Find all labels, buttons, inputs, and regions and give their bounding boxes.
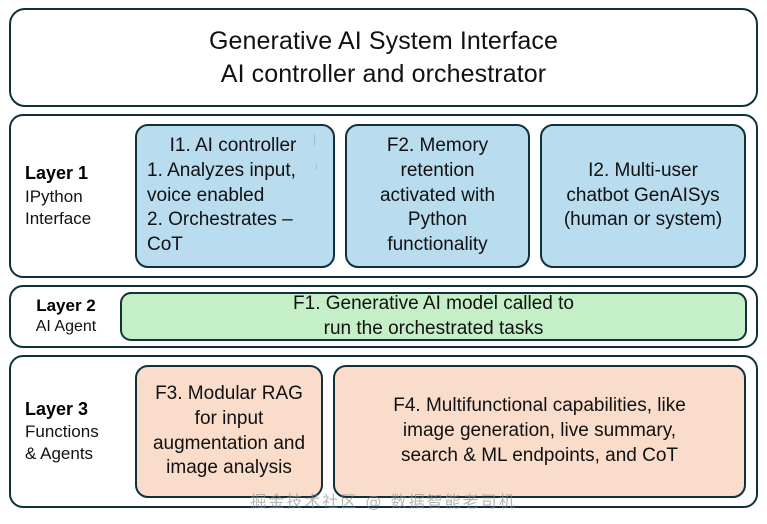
header-box: Generative AI System Interface AI contro…	[9, 8, 758, 107]
layer-2-container: Layer 2 AI Agent F1. Generative AI model…	[9, 285, 758, 348]
card-i2-text: I2. Multi-user chatbot GenAISys (human o…	[564, 159, 722, 233]
layer-1-label: Layer 1 IPython Interface	[21, 162, 125, 230]
diagram-subtitle-line-2: AI controller and orchestrator	[221, 58, 546, 91]
layer-3-label-sub-2: & Agents	[25, 443, 125, 465]
diagram-title-line-1: Generative AI System Interface	[209, 25, 558, 58]
card-i1-body: 1. Analyzes input, voice enabled 2. Orch…	[147, 160, 296, 255]
layer-2-label-lead: Layer 2	[36, 295, 96, 317]
card-i1-text: I1. AI controller1. Analyzes input, voic…	[145, 134, 325, 257]
card-f1-generative-ai-model[interactable]: F1. Generative AI model called to run th…	[120, 292, 747, 341]
layer-2-label: Layer 2 AI Agent	[20, 295, 112, 338]
layer-2-label-sub-1: AI Agent	[36, 317, 97, 338]
card-f4-multifunctional-capabilities[interactable]: F4. Multifunctional capabilities, like i…	[333, 365, 746, 498]
layer-3-label-sub-1: Functions	[25, 421, 125, 443]
card-f2-text: F2. Memory retention activated with Pyth…	[380, 134, 495, 257]
architecture-diagram: Generative AI System Interface AI contro…	[0, 0, 767, 524]
layer-3-container: Layer 3 Functions & Agents F3. Modular R…	[9, 355, 758, 508]
pen-dot-artifact-icon	[316, 164, 318, 170]
layer-1-container: Layer 1 IPython Interface I1. AI control…	[9, 114, 758, 278]
layer-3-label: Layer 3 Functions & Agents	[21, 398, 125, 466]
layer-3-label-lead: Layer 3	[25, 398, 125, 421]
layer-1-label-lead: Layer 1	[25, 162, 125, 185]
card-f1-text: F1. Generative AI model called to run th…	[293, 292, 574, 341]
pen-stroke-artifact-icon	[314, 134, 316, 146]
card-f3-modular-rag[interactable]: F3. Modular RAG for input augmentation a…	[135, 365, 323, 498]
card-i1-ai-controller[interactable]: I1. AI controller1. Analyzes input, voic…	[135, 124, 335, 268]
card-f2-memory-retention[interactable]: F2. Memory retention activated with Pyth…	[345, 124, 530, 268]
card-i2-multi-user-chatbot[interactable]: I2. Multi-user chatbot GenAISys (human o…	[540, 124, 746, 268]
card-f4-text: F4. Multifunctional capabilities, like i…	[393, 394, 686, 468]
layer-1-label-sub-1: IPython	[25, 186, 125, 208]
card-f3-text: F3. Modular RAG for input augmentation a…	[153, 382, 305, 481]
layer-1-label-sub-2: Interface	[25, 208, 125, 230]
card-i1-heading: I1. AI controller	[147, 134, 325, 159]
